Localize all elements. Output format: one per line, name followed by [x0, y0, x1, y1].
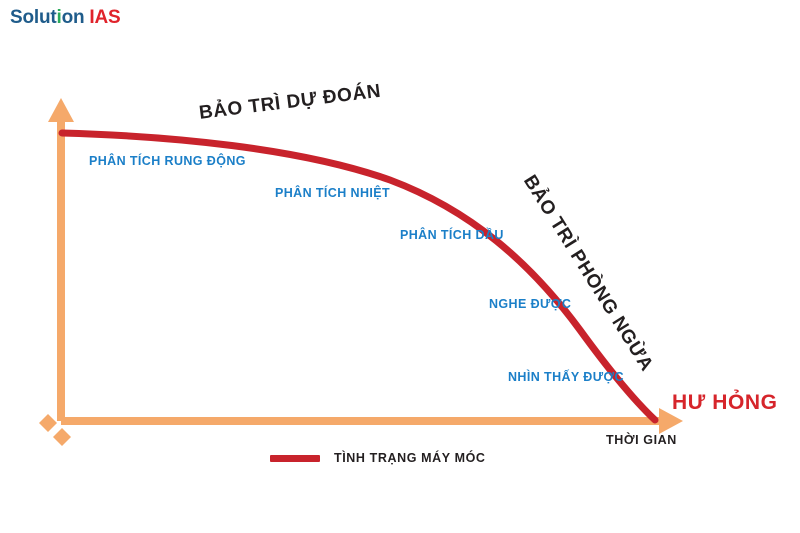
stage-label-visible-damage: NHÌN THẤY ĐƯỢC: [508, 371, 624, 384]
stage-label-vibration-analysis: PHÂN TÍCH RUNG ĐỘNG: [89, 155, 246, 168]
pf-curve-chart: BẢO TRÌ DỰ ĐOÁN BẢO TRÌ PHÒNG NGỪA PHÂN …: [0, 0, 800, 533]
legend-label-machine-condition: TÌNH TRẠNG MÁY MÓC: [334, 451, 486, 465]
stage-label-audible-noise: NGHE ĐƯỢC: [489, 298, 571, 311]
origin-diamond-left-icon: [39, 414, 57, 432]
chart-legend: TÌNH TRẠNG MÁY MÓC: [270, 451, 486, 465]
stage-label-thermal-analysis: PHÂN TÍCH NHIỆT: [275, 187, 390, 200]
y-axis-arrowhead-icon: [48, 98, 74, 122]
failure-point-label: HƯ HỎNG: [672, 392, 778, 413]
stage-label-oil-analysis: PHÂN TÍCH DẦU: [400, 229, 504, 242]
legend-swatch-machine-condition: [270, 455, 320, 462]
x-axis-label-time: THỜI GIAN: [606, 434, 677, 447]
origin-diamond-bottom-icon: [53, 428, 71, 446]
